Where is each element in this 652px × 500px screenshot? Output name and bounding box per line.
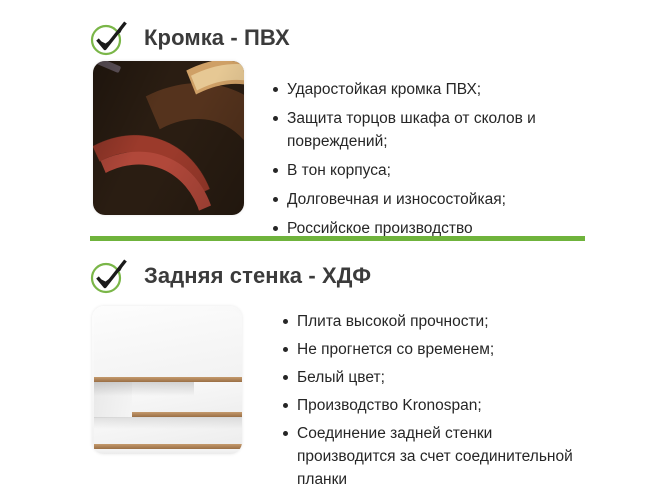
page-root: Кромка - ПВХ Ударостойкая кромка ПВХ; За… xyxy=(0,0,652,500)
list-item: Ударостойкая кромка ПВХ; xyxy=(272,78,572,101)
hdf-back-panel-photo xyxy=(92,306,242,454)
list-item: Соединение задней стенки производится за… xyxy=(282,422,582,491)
section-heading-back-panel: Задняя стенка - ХДФ xyxy=(88,256,371,296)
list-item: В тон корпуса; xyxy=(272,159,572,182)
section-title: Кромка - ПВХ xyxy=(144,23,290,53)
section-divider xyxy=(90,236,585,241)
hdf-board-top xyxy=(94,311,242,377)
hdf-shadow-middle xyxy=(94,417,242,429)
hdf-shadow-top xyxy=(94,382,194,396)
list-item: Долговечная и износостойкая; xyxy=(272,188,572,211)
check-circle-icon xyxy=(88,18,132,58)
list-item: Белый цвет; xyxy=(282,366,582,389)
hdf-edge-middle xyxy=(132,412,242,417)
list-item: Защита торцов шкафа от сколов и поврежде… xyxy=(272,107,572,153)
hdf-edge-bottom xyxy=(94,444,242,449)
feature-list-back-panel: Плита высокой прочности; Не прогнется со… xyxy=(282,310,582,496)
list-item: Не прогнется со временем; xyxy=(282,338,582,361)
section-heading-edge-banding: Кромка - ПВХ xyxy=(88,18,290,58)
hdf-edge-top xyxy=(94,377,242,382)
list-item: Плита высокой прочности; xyxy=(282,310,582,333)
section-title: Задняя стенка - ХДФ xyxy=(144,261,371,291)
feature-list-edge-banding: Ударостойкая кромка ПВХ; Защита торцов ш… xyxy=(272,78,572,246)
hdf-board-base xyxy=(94,449,242,454)
band-seam xyxy=(93,61,121,73)
list-item: Производство Kronospan; xyxy=(282,394,582,417)
check-circle-icon xyxy=(88,256,132,296)
pvc-edge-banding-photo xyxy=(93,61,244,215)
